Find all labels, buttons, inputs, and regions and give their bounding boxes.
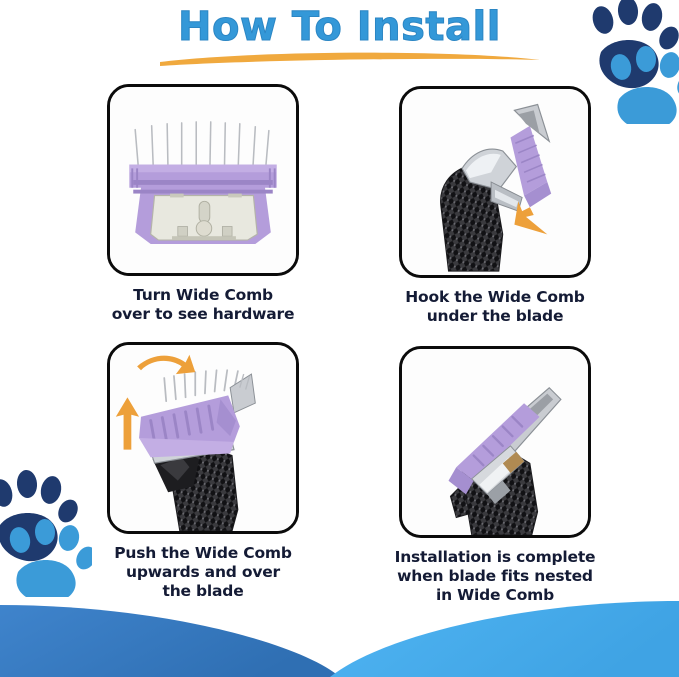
wide-comb-back-view-photo bbox=[107, 84, 299, 276]
step-3-caption-line-2: upwards and over bbox=[58, 563, 348, 582]
step-2-caption: Hook the Wide Comb under the blade bbox=[350, 288, 640, 326]
step-1-caption: Turn Wide Comb over to see hardware bbox=[58, 286, 348, 324]
step-3-caption: Push the Wide Comb upwards and over the … bbox=[58, 544, 348, 601]
page-title: How To Install bbox=[0, 4, 679, 50]
step-4-cell: Installation is complete when blade fits… bbox=[350, 346, 640, 605]
paw-print-pair-icon-bottom-left bbox=[0, 467, 92, 597]
step-4-caption-line-2: when blade fits nested bbox=[350, 567, 640, 586]
push-comb-over-blade-photo bbox=[107, 342, 299, 534]
step-4-caption-line-1: Installation is complete bbox=[350, 548, 640, 567]
page-header: How To Install bbox=[0, 4, 679, 50]
installation-complete-photo bbox=[399, 346, 591, 538]
step-1-cell: Turn Wide Comb over to see hardware bbox=[58, 84, 348, 324]
step-4-caption: Installation is complete when blade fits… bbox=[350, 548, 640, 605]
step-2-caption-line-1: Hook the Wide Comb bbox=[350, 288, 640, 307]
hook-comb-under-blade-photo bbox=[399, 86, 591, 278]
title-underline-swoosh bbox=[158, 48, 542, 70]
step-3-cell: Push the Wide Comb upwards and over the … bbox=[58, 342, 348, 601]
step-1-caption-line-2: over to see hardware bbox=[58, 305, 348, 324]
step-2-caption-line-2: under the blade bbox=[350, 307, 640, 326]
step-1-caption-line-1: Turn Wide Comb bbox=[58, 286, 348, 305]
step-4-caption-line-3: in Wide Comb bbox=[350, 586, 640, 605]
step-3-caption-line-1: Push the Wide Comb bbox=[58, 544, 348, 563]
how-to-install-infographic: { "page": { "title": "How To Install", "… bbox=[0, 0, 679, 677]
steps-grid: Turn Wide Comb over to see hardware bbox=[0, 84, 679, 614]
step-3-caption-line-3: the blade bbox=[58, 582, 348, 601]
